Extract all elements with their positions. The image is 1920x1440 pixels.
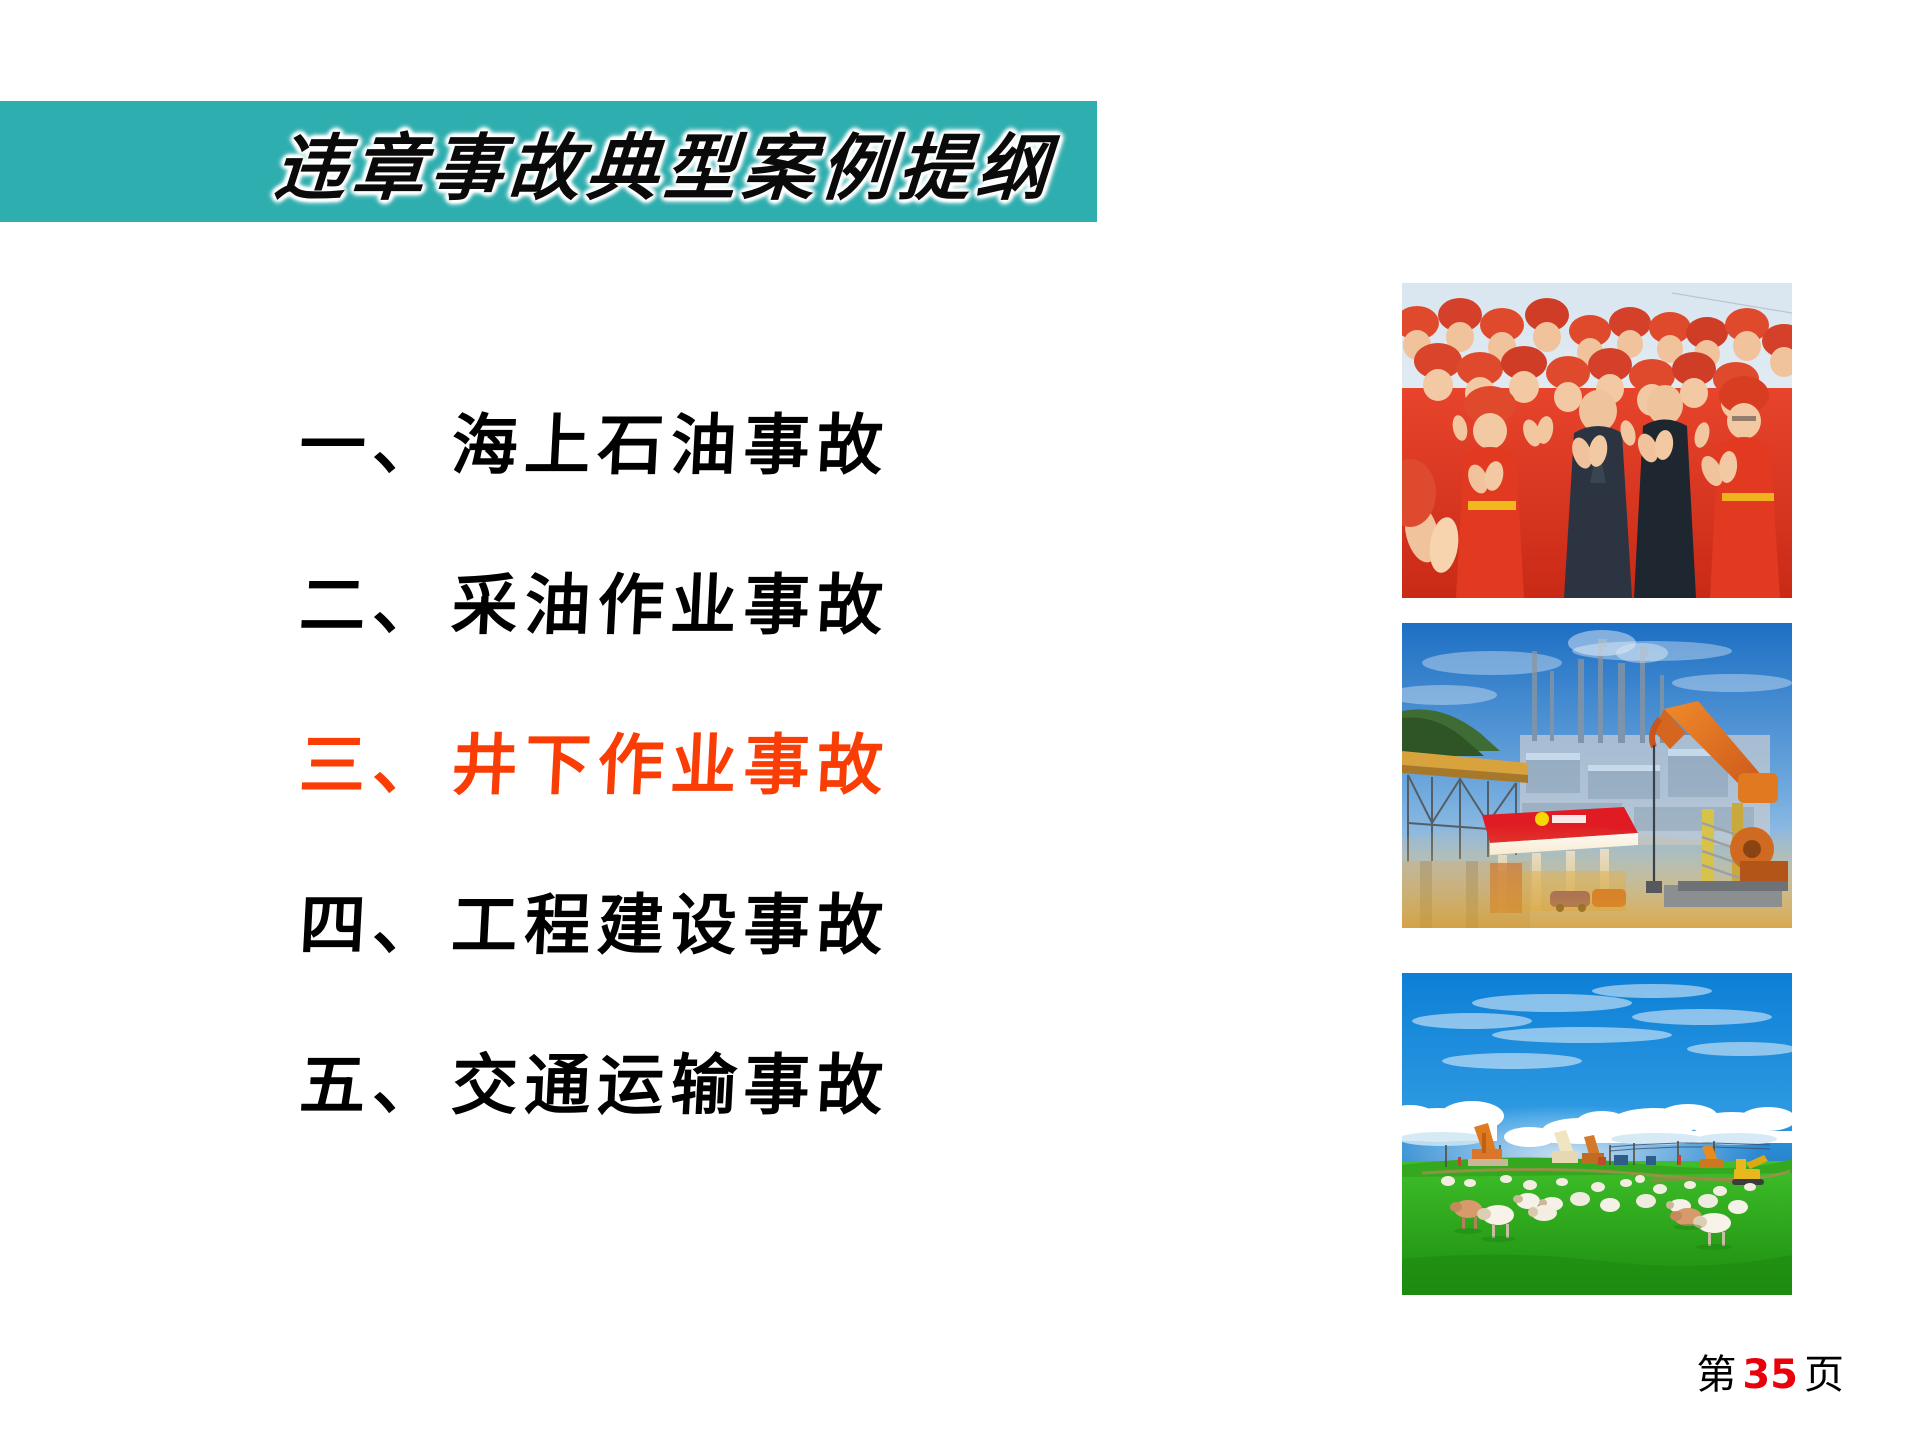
outline-list: 一、 海上石油事故 二、 采油作业事故 三、 井下作业事故 四、 工程建设事故 … [300, 360, 1000, 1160]
grassland-oilfield-photo [1402, 973, 1792, 1295]
outline-item-5-label: 交通运输事故 [449, 1032, 892, 1128]
industry-montage-photo [1402, 623, 1792, 928]
outline-item-2[interactable]: 二、 采油作业事故 [296, 520, 1004, 680]
outline-item-5-number: 五、 [297, 1032, 454, 1128]
outline-item-1[interactable]: 一、 海上石油事故 [296, 360, 1004, 520]
outline-item-2-number: 二、 [297, 552, 454, 648]
outline-item-2-label: 采油作业事故 [449, 552, 892, 648]
outline-item-5[interactable]: 五、 交通运输事故 [296, 1000, 1004, 1160]
page-number-value: 35 [1736, 1352, 1804, 1398]
page-number: 第35页 [1696, 1342, 1844, 1400]
oil-workers-photo [1402, 283, 1792, 598]
outline-item-4-number: 四、 [297, 872, 454, 968]
slide-title: 违章事故典型案例提纲 [0, 101, 1101, 222]
page-number-prefix: 第 [1696, 1352, 1736, 1398]
outline-item-1-label: 海上石油事故 [449, 392, 892, 488]
outline-item-4-label: 工程建设事故 [449, 872, 892, 968]
outline-item-1-number: 一、 [297, 392, 454, 488]
industry-montage-photo-graphic [1402, 623, 1792, 928]
oil-workers-photo-graphic [1402, 283, 1792, 598]
outline-item-3-number: 三、 [297, 712, 454, 808]
grassland-oilfield-photo-graphic [1402, 973, 1792, 1295]
outline-item-3[interactable]: 三、 井下作业事故 [296, 680, 1004, 840]
outline-item-4[interactable]: 四、 工程建设事故 [296, 840, 1004, 1000]
outline-item-3-label: 井下作业事故 [449, 712, 892, 808]
page-number-suffix: 页 [1804, 1352, 1844, 1398]
